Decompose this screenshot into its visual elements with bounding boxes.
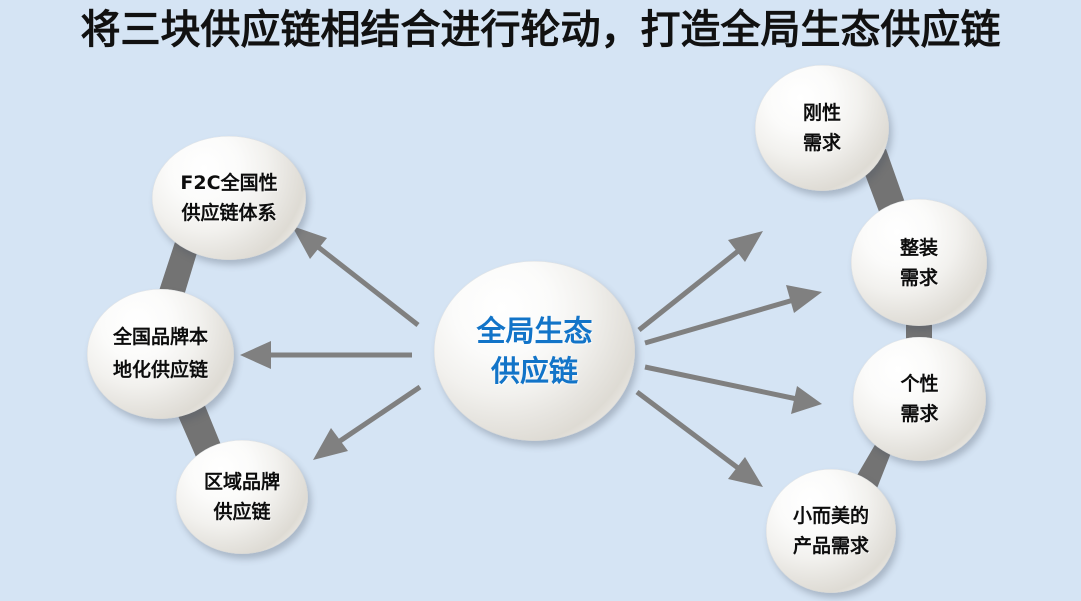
node-label-line1: 小而美的 — [793, 501, 869, 531]
node-label-line2: 供应链 — [213, 497, 270, 527]
slide-canvas: 将三块供应链相结合进行轮动，打造全局生态供应链 — [0, 0, 1081, 601]
node-label-line2: 供应链体系 — [181, 198, 276, 228]
node-label-line1: F2C全国性 — [180, 168, 277, 198]
node-label-line1: 全局生态 — [476, 311, 592, 351]
node-label-line1: 个性 — [900, 369, 938, 399]
node-global-ecosystem-supply-chain[interactable]: 全局生态 供应链 — [434, 261, 635, 441]
node-label-line2: 供应链 — [491, 351, 578, 391]
node-label-line2: 需求 — [900, 263, 938, 293]
arrow-to-f2c — [292, 226, 418, 325]
arrow-to-personalized-demand — [645, 367, 822, 414]
node-label-line1: 整装 — [900, 233, 938, 263]
arrow-to-whole-house-demand — [645, 285, 822, 343]
node-label-line2: 需求 — [900, 399, 938, 429]
node-label-line2: 需求 — [803, 128, 841, 158]
node-label-line2: 地化供应链 — [113, 354, 208, 387]
node-national-brand-localized-supply-chain[interactable]: 全国品牌本 地化供应链 — [87, 289, 234, 419]
arrow-to-small-beautiful-demand — [637, 392, 763, 487]
node-regional-brand-supply-chain[interactable]: 区域品牌 供应链 — [176, 440, 308, 554]
node-whole-house-renovation-demand[interactable]: 整装 需求 — [851, 199, 987, 326]
page-title: 将三块供应链相结合进行轮动，打造全局生态供应链 — [0, 2, 1081, 60]
node-f2c-national-supply-chain-system[interactable]: F2C全国性 供应链体系 — [152, 136, 306, 260]
node-label-line1: 区域品牌 — [204, 467, 280, 497]
node-personalized-demand[interactable]: 个性 需求 — [853, 337, 986, 461]
node-small-and-beautiful-product-demand[interactable]: 小而美的 产品需求 — [766, 469, 896, 593]
node-label-line2: 产品需求 — [793, 531, 869, 561]
node-label-line1: 刚性 — [803, 98, 841, 128]
node-label-line1: 全国品牌本 — [113, 321, 208, 354]
arrow-to-local — [240, 341, 412, 369]
arrow-to-region — [313, 387, 420, 460]
node-rigid-demand[interactable]: 刚性 需求 — [755, 65, 889, 191]
